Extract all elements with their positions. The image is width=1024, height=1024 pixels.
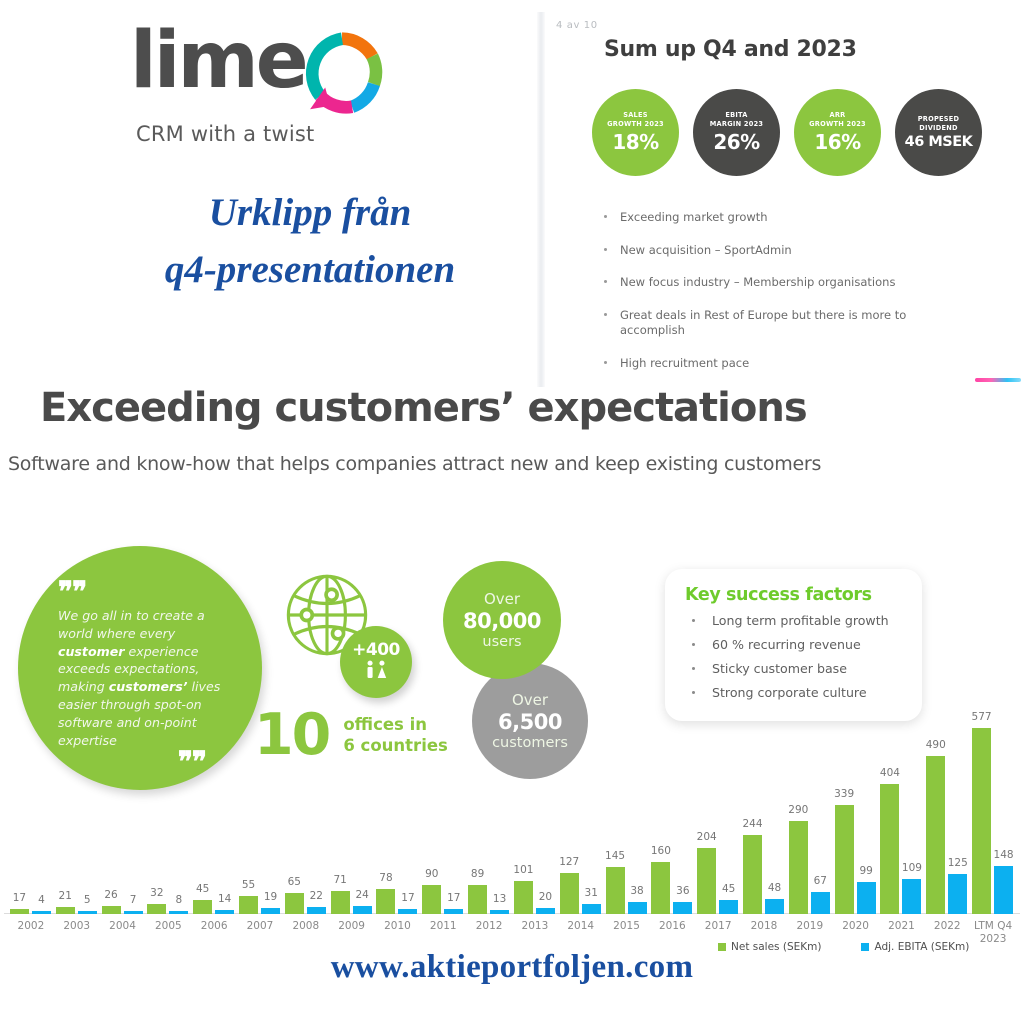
users-bubble-top: Over [484, 590, 520, 608]
chart-bar-group[interactable]: 8913 [468, 885, 509, 914]
lime-logo: lime CRM with a twist [130, 28, 390, 146]
chart-bar-group[interactable]: 16036 [651, 862, 692, 914]
chart-bar-group[interactable]: 7817 [376, 889, 417, 914]
bar-value-label: 4 [38, 894, 45, 906]
customers-bubble-unit: customers [492, 735, 568, 751]
chart-bar-group[interactable]: 29067 [789, 821, 830, 914]
bar-value-label: 290 [788, 804, 808, 816]
bar-value-label: 22 [310, 890, 323, 902]
bar-value-label: 67 [814, 875, 827, 887]
bar-value-label: 101 [513, 864, 533, 876]
bar-value-label: 21 [59, 890, 72, 902]
bar-value-label: 65 [288, 876, 301, 888]
chart-bar-group[interactable]: 12731 [560, 873, 601, 914]
adj-ebita-bar[interactable]: 45 [719, 900, 738, 915]
bar-value-label: 404 [880, 767, 900, 779]
bar-value-label: 14 [218, 893, 231, 905]
adj-ebita-bar[interactable]: 99 [857, 882, 876, 914]
kpi-label: SALESGROWTH 2023 [607, 111, 664, 129]
adj-ebita-bar[interactable]: 67 [811, 892, 830, 914]
vertical-divider [537, 12, 545, 387]
bar-value-label: 8 [176, 894, 183, 906]
net-sales-bar[interactable]: 65 [285, 893, 304, 914]
kpi-label: PROPESEDDIVIDEND [918, 115, 960, 133]
adj-ebita-bar[interactable]: 19 [261, 908, 280, 914]
decorative-streak [975, 378, 1021, 382]
sumup-bullet-item: Great deals in Rest of Europe but there … [600, 308, 940, 339]
customers-bubble-top: Over [512, 691, 548, 709]
bar-value-label: 89 [471, 868, 484, 880]
bar-value-label: 45 [196, 883, 209, 895]
chart-bar-group[interactable]: 4514 [193, 900, 234, 915]
page-title: Exceeding customers’ expectations [40, 385, 807, 431]
adj-ebita-bar[interactable]: 4 [32, 911, 51, 914]
site-url: www.aktieportfoljen.com [0, 949, 1024, 986]
net-sales-bar[interactable]: 45 [193, 900, 212, 915]
adj-ebita-bar[interactable]: 14 [215, 910, 234, 915]
sumup-bullet-item: New acquisition – SportAdmin [600, 243, 940, 259]
key-success-factors-title: Key success factors [685, 585, 908, 605]
users-bubble-unit: users [482, 634, 521, 650]
adj-ebita-bar[interactable]: 148 [994, 866, 1013, 914]
net-sales-bar[interactable]: 577 [972, 728, 991, 914]
clip-title-line2: q4-presentationen [110, 242, 510, 299]
net-sales-bar[interactable]: 127 [560, 873, 579, 914]
net-sales-bar[interactable]: 244 [743, 835, 762, 914]
adj-ebita-bar[interactable]: 20 [536, 908, 555, 914]
kpi-value: 18% [612, 130, 658, 154]
net-sales-bar[interactable]: 339 [835, 805, 854, 914]
bar-value-label: 7 [130, 894, 137, 906]
clip-title-line1: Urklipp från [110, 185, 510, 242]
bar-value-label: 55 [242, 879, 255, 891]
net-sales-bar[interactable]: 160 [651, 862, 670, 914]
users-bubble: Over 80,000 users [443, 561, 561, 679]
bar-value-label: 13 [493, 893, 506, 905]
adj-ebita-bar[interactable]: 5 [78, 911, 97, 914]
chart-bar-group[interactable]: 328 [147, 904, 188, 914]
bar-value-label: 127 [559, 856, 579, 868]
bar-value-label: 17 [13, 892, 26, 904]
bar-value-label: 145 [605, 850, 625, 862]
net-sales-bar[interactable]: 90 [422, 885, 441, 914]
adj-ebita-bar[interactable]: 31 [582, 904, 601, 914]
chart-bar-group[interactable]: 24448 [743, 835, 784, 914]
adj-ebita-bar[interactable]: 13 [490, 910, 509, 914]
adj-ebita-bar[interactable]: 36 [673, 902, 692, 914]
bar-value-label: 19 [264, 891, 277, 903]
customers-bubble: Over 6,500 customers [472, 663, 588, 779]
net-sales-bar[interactable]: 17 [10, 909, 29, 914]
chart-bar-group[interactable]: 20445 [697, 848, 738, 914]
key-success-factor-item: Sticky customer base [685, 661, 908, 676]
people-icon [359, 660, 393, 684]
bar-value-label: 24 [355, 889, 368, 901]
adj-ebita-bar[interactable]: 8 [169, 911, 188, 914]
adj-ebita-bar[interactable]: 125 [948, 874, 967, 914]
chart-bar-group[interactable]: 7124 [331, 891, 372, 914]
bar-value-label: 125 [948, 857, 968, 869]
chart-bar-group[interactable]: 14538 [606, 867, 647, 914]
adj-ebita-bar[interactable]: 109 [902, 879, 921, 914]
bar-value-label: 48 [768, 882, 781, 894]
net-sales-bar[interactable]: 145 [606, 867, 625, 914]
adj-ebita-bar[interactable]: 38 [628, 902, 647, 914]
bar-value-label: 160 [651, 845, 671, 857]
kpi-circle: SALESGROWTH 202318% [592, 89, 679, 176]
net-sales-bar[interactable]: 71 [331, 891, 350, 914]
logo-ring-icon [300, 32, 384, 116]
bar-value-label: 17 [401, 892, 414, 904]
bar-value-label: 577 [972, 711, 992, 723]
chart-bar-group[interactable]: 6522 [285, 893, 326, 914]
chart-bar-group[interactable]: 9017 [422, 885, 463, 914]
net-sales-bar[interactable]: 89 [468, 885, 487, 914]
employees-count: +400 [352, 640, 400, 660]
kpi-label: EBITAMARGIN 2023 [710, 111, 764, 129]
adj-ebita-bar[interactable]: 24 [353, 906, 372, 914]
net-sales-bar[interactable]: 204 [697, 848, 716, 914]
kpi-circle: ARRGROWTH 202316% [794, 89, 881, 176]
clip-title: Urklipp från q4-presentationen [110, 185, 510, 298]
chart-bar-group[interactable]: 174 [10, 909, 51, 914]
net-sales-bar[interactable]: 78 [376, 889, 395, 914]
bar-value-label: 26 [104, 889, 117, 901]
bar-value-label: 109 [902, 862, 922, 874]
users-bubble-value: 80,000 [463, 609, 541, 633]
customers-bubble-value: 6,500 [498, 710, 562, 734]
kpi-circle: EBITAMARGIN 202326% [693, 89, 780, 176]
kpi-row: SALESGROWTH 202318%EBITAMARGIN 202326%AR… [592, 89, 982, 176]
bar-value-label: 31 [585, 887, 598, 899]
kpi-label: ARRGROWTH 2023 [809, 111, 866, 129]
kpi-circle: PROPESEDDIVIDEND46 MSEK [895, 89, 982, 176]
bar-value-label: 45 [722, 883, 735, 895]
net-sales-bar[interactable]: 32 [147, 904, 166, 914]
chart-bar-group[interactable]: 404109 [880, 784, 921, 914]
kpi-value: 26% [713, 130, 759, 154]
logo-tagline: CRM with a twist [136, 122, 390, 146]
logo-wordmark: lime [130, 28, 306, 94]
key-success-factors-list: Long term profitable growth60 % recurrin… [685, 613, 908, 700]
bar-value-label: 99 [859, 865, 872, 877]
bar-value-label: 36 [676, 885, 689, 897]
bar-value-label: 38 [630, 885, 643, 897]
sumup-bullet-item: Exceeding market growth [600, 210, 940, 226]
bar-value-label: 5 [84, 894, 91, 906]
sumup-bullet-list: Exceeding market growthNew acquisition –… [600, 210, 940, 388]
adj-ebita-bar[interactable]: 7 [124, 911, 143, 914]
adj-ebita-bar[interactable]: 17 [444, 909, 463, 914]
kpi-value: 16% [814, 130, 860, 154]
sumup-bullet-item: New focus industry – Membership organisa… [600, 275, 940, 291]
bar-value-label: 148 [994, 849, 1014, 861]
bar-value-label: 17 [447, 892, 460, 904]
bar-value-label: 32 [150, 887, 163, 899]
bar-value-label: 20 [539, 891, 552, 903]
chart-bar-group[interactable]: 267 [102, 906, 143, 914]
chart-x-tick-label: LTM Q42023 [963, 920, 1023, 946]
bar-value-label: 90 [425, 868, 438, 880]
bar-value-label: 339 [834, 788, 854, 800]
sumup-title: Sum up Q4 and 2023 [604, 37, 857, 62]
chart-bar-group[interactable]: 215 [56, 907, 97, 914]
chart-bar-group[interactable]: 490125 [926, 756, 967, 914]
bar-value-label: 204 [697, 831, 717, 843]
quote-open-icon: ❞❞ [58, 584, 232, 601]
sumup-bullet-item: High recruitment pace [600, 356, 940, 372]
page-subtitle: Software and know-how that helps compani… [8, 453, 821, 475]
slide-page-number: 4 av 10 [556, 20, 598, 29]
net-sales-bar[interactable]: 26 [102, 906, 121, 914]
bar-value-label: 71 [333, 874, 346, 886]
chart-bar-group[interactable]: 33999 [835, 805, 876, 914]
net-sales-bar[interactable]: 404 [880, 784, 899, 914]
adj-ebita-bar[interactable]: 17 [398, 909, 417, 914]
bar-value-label: 490 [926, 739, 946, 751]
employees-badge: +400 [340, 626, 412, 698]
key-success-factor-item: Long term profitable growth [685, 613, 908, 628]
kpi-value: 46 MSEK [905, 134, 973, 150]
net-sales-bar[interactable]: 55 [239, 896, 258, 914]
chart-bar-group[interactable]: 5519 [239, 896, 280, 914]
adj-ebita-bar[interactable]: 22 [307, 907, 326, 914]
adj-ebita-bar[interactable]: 48 [765, 899, 784, 914]
chart-bar-group[interactable]: 10120 [514, 881, 555, 914]
slide-canvas: lime CRM with a twist Urklipp från q4-pr… [0, 0, 1024, 1024]
bar-value-label: 78 [379, 872, 392, 884]
net-sales-bar[interactable]: 101 [514, 881, 533, 914]
net-sales-bar[interactable]: 290 [789, 821, 808, 914]
bar-value-label: 244 [742, 818, 762, 830]
net-sales-bar[interactable]: 21 [56, 907, 75, 914]
chart-bar-group[interactable]: 577148 [972, 728, 1013, 914]
key-success-factor-item: 60 % recurring revenue [685, 637, 908, 652]
net-sales-bar[interactable]: 490 [926, 756, 945, 914]
